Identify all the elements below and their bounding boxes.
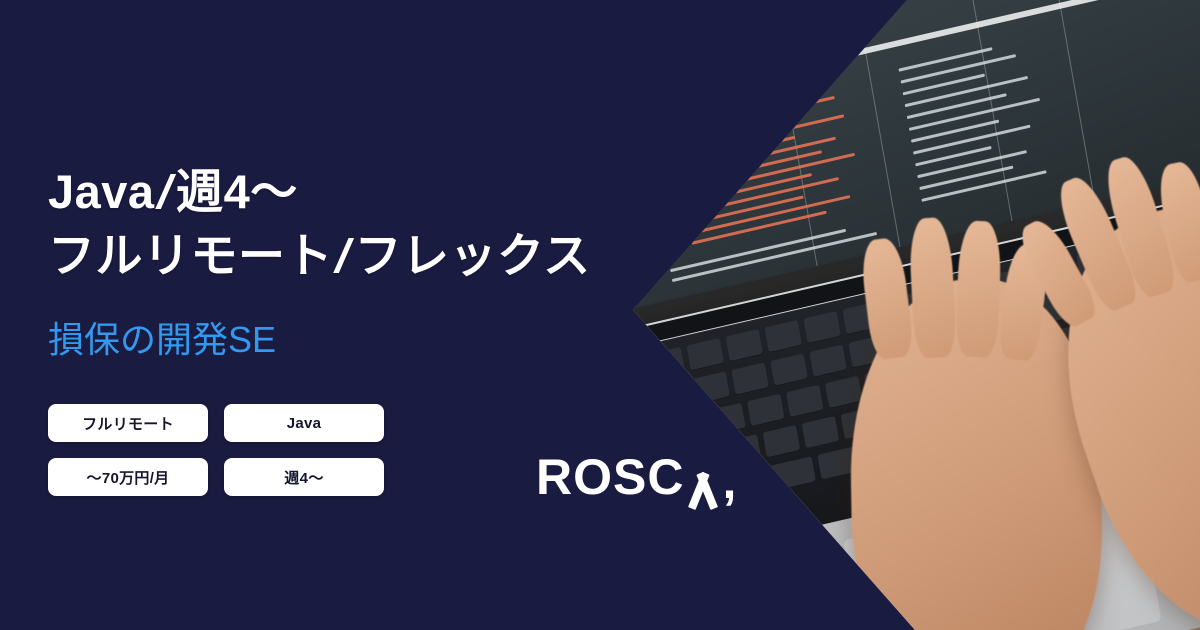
headline-line1-part2: 週4〜 [176, 165, 298, 218]
tag-pill-salary[interactable]: 〜70万円/月 [48, 458, 208, 496]
headline-line2-part1: フルリモート [48, 229, 333, 282]
tag-pill-java[interactable]: Java [224, 404, 384, 442]
headline-line1-part1: Java [48, 165, 155, 218]
page-title: Java/週4〜 フルリモート/フレックス [48, 160, 591, 288]
logo-lambda-a-icon [686, 471, 720, 507]
job-ad-banner: Java/週4〜 フルリモート/フレックス 損保の開発SE フルリモート Jav… [0, 0, 1200, 630]
rosca-logo[interactable]: ROSC , [536, 448, 737, 506]
tag-pill-remote[interactable]: フルリモート [48, 404, 208, 442]
logo-comma: , [722, 456, 737, 506]
headline-line2-part2: フレックス [355, 229, 591, 282]
tag-list: フルリモート Java 〜70万円/月 週4〜 [48, 404, 448, 496]
tag-pill-days[interactable]: 週4〜 [224, 458, 384, 496]
job-subtitle: 損保の開発SE [48, 318, 276, 362]
text-content: Java/週4〜 フルリモート/フレックス 損保の開発SE フルリモート Jav… [0, 0, 660, 630]
logo-text: ROSC [536, 448, 684, 506]
